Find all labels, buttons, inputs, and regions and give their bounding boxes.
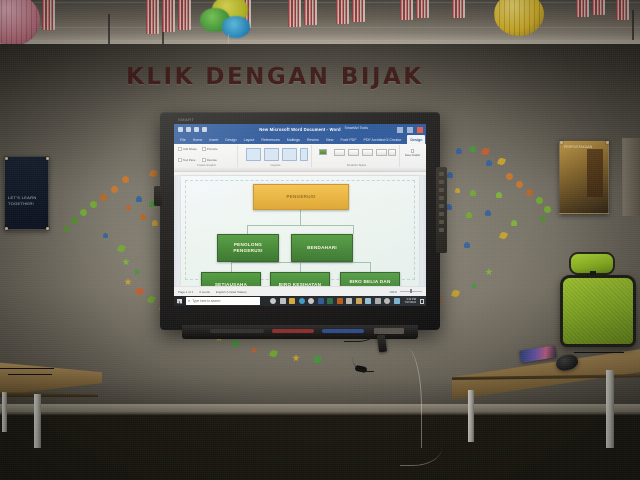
group-label-smartart-styles: SmartArt Styles [314,163,399,167]
malaysia-flag-bunting [400,0,429,34]
side-button-input[interactable] [439,180,444,184]
flag-piece [576,0,589,17]
tab-home[interactable]: Home [192,138,204,142]
flag-piece [162,0,175,32]
status-word-count[interactable]: 0 words [199,290,210,294]
blue-pompom [222,16,250,38]
tab-foxit-pdf[interactable]: Foxit PDF [339,138,357,142]
paper-butterfly-cutouts [122,176,129,183]
ribbon-group-create-graphic: Add Shape Text Pane Promote Demote Creat… [176,145,238,167]
malaysia-flag-bunting [288,0,317,34]
pen-black[interactable] [210,329,264,333]
style-thumb-3[interactable] [362,149,373,156]
change-colors-button[interactable] [319,149,327,155]
powerpoint-icon[interactable] [337,298,343,304]
excel-icon[interactable] [327,298,333,304]
desk-leg-left-front [34,394,41,448]
room-photo: KLIK DENGAN BIJAK LET'S LEARN TOGETHER! … [0,0,640,480]
connector-v-l3c [370,262,371,272]
flag-piece [336,0,349,24]
paper-butterfly-cutouts [506,173,513,180]
reset-graphic-icon [411,149,415,153]
pen-red[interactable] [272,329,314,333]
chair-mesh-texture [563,278,633,344]
side-button-power[interactable] [439,172,444,176]
word-title-bar: New Microsoft Word Document - Word Smart… [174,124,426,135]
right-poster-text: PERPUSTAKAAN [564,145,586,151]
green-mesh-office-chair[interactable] [560,275,636,347]
malaysia-flag-bunting [452,0,465,34]
flag-piece [616,0,629,20]
tab-file[interactable]: File [179,138,187,142]
eraser[interactable] [374,328,404,334]
flag-piece [42,0,55,30]
smartboard-left-nub [154,186,162,206]
word-icon[interactable] [318,298,324,304]
flag-piece [592,0,605,15]
tab-references[interactable]: References [260,138,280,142]
document-title: New Microsoft Word Document - Word [174,127,426,132]
search-icon: ⌕ [188,299,190,303]
flag-piece [178,0,191,30]
malaysia-flag-bunting [616,0,629,34]
store-icon[interactable] [394,298,400,304]
side-button-freeze[interactable] [439,212,444,216]
white-floor-cable-tail [400,440,442,466]
windows-logo-icon [177,299,182,304]
start-button[interactable] [174,296,185,306]
promote-label: Promote [207,147,218,151]
tab-mailings[interactable]: Mailings [286,138,301,142]
tab-pdf-architect[interactable]: PDF Architect 5 Creator [362,138,402,142]
malaysia-flag-bunting [336,0,365,34]
right-wall-poster: PERPUSTAKAAN [559,140,609,214]
connector-v-l2b [353,225,354,234]
zoom-slider[interactable] [400,291,422,292]
desk-leg-left-back [2,392,7,432]
org-node-penolong-pengerusi[interactable]: PENOLONG PENGERUSI [217,234,279,262]
left-poster-text: LET'S LEARN TOGETHER! [8,195,45,207]
style-thumb-1[interactable] [334,149,345,156]
tab-smartart-design[interactable]: Design [407,135,425,144]
smartboard-side-controls[interactable] [436,167,447,253]
minimize-button[interactable] [397,127,403,133]
chrome-icon[interactable] [308,298,314,304]
text-pane-label: Text Pane [183,158,195,162]
settings-icon[interactable] [384,298,390,304]
right-wall-edge [622,138,640,216]
malaysia-flag-bunting [42,0,55,34]
wall-headline-text: KLIK DENGAN BIJAK [126,64,396,94]
org-node-pengerusi[interactable]: PENGERUSI [253,184,349,210]
left-wall-poster: LET'S LEARN TOGETHER! [4,156,49,230]
task-view-icon[interactable] [280,298,286,304]
search-placeholder-text: Type here to search [192,299,220,303]
folder-icon[interactable] [356,298,362,304]
windows-taskbar[interactable]: ⌕ Type here to search [174,296,426,306]
taskbar-clock[interactable]: 3:42 PM 7/17/2024 [404,298,416,304]
connector-v-top [300,210,301,226]
ribbon-group-smartart-styles: SmartArt Styles [314,145,400,167]
document-page[interactable]: PENGERUSI PENOLONG PENGERUSI BENDAHARI S… [181,176,419,286]
flag-piece [416,0,429,18]
status-page-indicator[interactable]: Page 1 of 1 [178,290,193,294]
style-thumb-5[interactable] [388,149,396,156]
ribbon-tab-strip[interactable]: File Home Insert Design Layout Reference… [174,135,426,144]
flag-piece [288,0,301,27]
malaysia-flag-bunting [146,0,191,34]
flag-piece [304,0,317,25]
reset-graphic-label: Reset Graphic [405,154,420,157]
connector-v-l3b [300,262,301,272]
layout-thumb-3[interactable] [282,148,297,161]
ribbon-body[interactable]: Add Shape Text Pane Promote Demote Creat… [174,144,426,172]
close-button[interactable] [417,127,423,133]
ribbon-group-layouts: Layouts [240,145,312,167]
side-button-volume-up[interactable] [439,188,444,192]
connector-h-level2 [247,225,354,226]
malaysia-flag-bunting [576,0,605,34]
tab-view[interactable]: View [325,138,335,142]
demote-icon [202,158,206,162]
photos-icon[interactable] [365,298,371,304]
desk-leg-right-back [468,390,474,442]
interactive-smartboard[interactable]: SMART New Microsoft Word Do [160,112,440,330]
smartboard-brand-label: SMART [178,117,194,122]
media-icon[interactable] [375,298,381,304]
org-node-bendahari[interactable]: BENDAHARI [291,234,353,262]
layout-thumb-2[interactable] [264,148,279,161]
side-button-menu[interactable] [439,204,444,208]
side-button-volume-down[interactable] [439,196,444,200]
baseboard [0,404,640,415]
flag-piece [146,0,159,34]
flag-piece [352,0,365,22]
side-button-blank[interactable] [439,220,444,224]
demote-label: Demote [207,158,217,162]
taskbar-search-input[interactable]: ⌕ Type here to search [186,297,260,305]
add-shape-icon [178,147,182,151]
side-button-usb[interactable] [439,228,444,232]
ribbon-group-reset: Reset Graphic [402,145,426,167]
word-status-bar[interactable]: Page 1 of 1 0 words English (United Stat… [174,286,426,296]
flag-piece [400,0,413,20]
maximize-button[interactable] [407,127,413,133]
tab-layout[interactable]: Layout [243,138,256,142]
tab-insert[interactable]: Insert [208,138,219,142]
status-zoom-level[interactable]: 100% [389,290,397,294]
group-label-create-graphic: Create Graphic [176,163,237,167]
contextual-tab-group-label: SmartArt Tools [345,126,369,130]
file-explorer-icon[interactable] [289,298,295,304]
taskbar-app-icons[interactable] [270,298,400,304]
flag-piece [452,0,465,18]
text-pane-icon [178,158,182,162]
cortana-icon[interactable] [270,298,276,304]
style-thumb-4[interactable] [376,149,387,156]
promote-icon [202,147,206,151]
status-language[interactable]: English (United States) [216,290,247,294]
smartboard-screen[interactable]: New Microsoft Word Document - Word Smart… [174,124,426,306]
mail-icon[interactable] [346,298,352,304]
layouts-more-icon[interactable] [300,148,308,161]
tab-design[interactable]: Design [224,138,237,142]
style-thumb-2[interactable] [348,149,359,156]
edge-icon[interactable] [299,298,305,304]
group-label-layouts: Layouts [240,163,311,167]
tab-review[interactable]: Review [306,138,320,142]
clock-date: 7/17/2024 [404,301,416,304]
connector-v-l3a [231,262,232,272]
connector-v-l2a [247,225,248,234]
layout-thumb-1[interactable] [246,148,261,161]
desk-leg-right-front [606,370,614,448]
add-shape-label: Add Shape [183,147,197,151]
notifications-icon[interactable] [420,299,424,304]
